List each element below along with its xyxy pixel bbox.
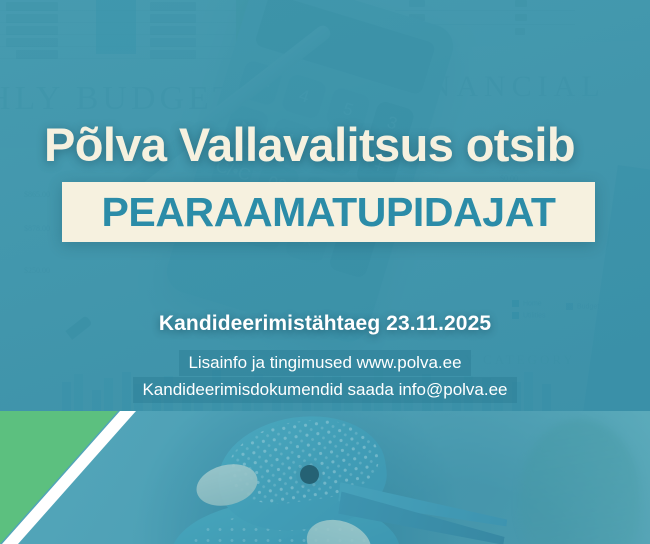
top-background-section: HLY BUDGET FINANCIAL art for each catego… [0, 0, 650, 411]
bottom-background-section: PÕLVA VALD [0, 411, 650, 544]
role-banner: PEARAAMATUPIDAJAT [62, 182, 595, 242]
info-line-email: Kandideerimisdokumendid saada info@polva… [133, 377, 516, 403]
page-title: Põlva Vallavalitsus otsib [44, 117, 624, 172]
info-lines: Lisainfo ja tingimused www.polva.ee Kand… [0, 350, 650, 403]
application-deadline: Kandideerimistähtaeg 23.11.2025 [0, 312, 650, 336]
info-line-website: Lisainfo ja tingimused www.polva.ee [179, 350, 470, 376]
job-advert-poster: HLY BUDGET FINANCIAL art for each catego… [0, 0, 650, 544]
role-title: PEARAAMATUPIDAJAT [101, 189, 555, 236]
